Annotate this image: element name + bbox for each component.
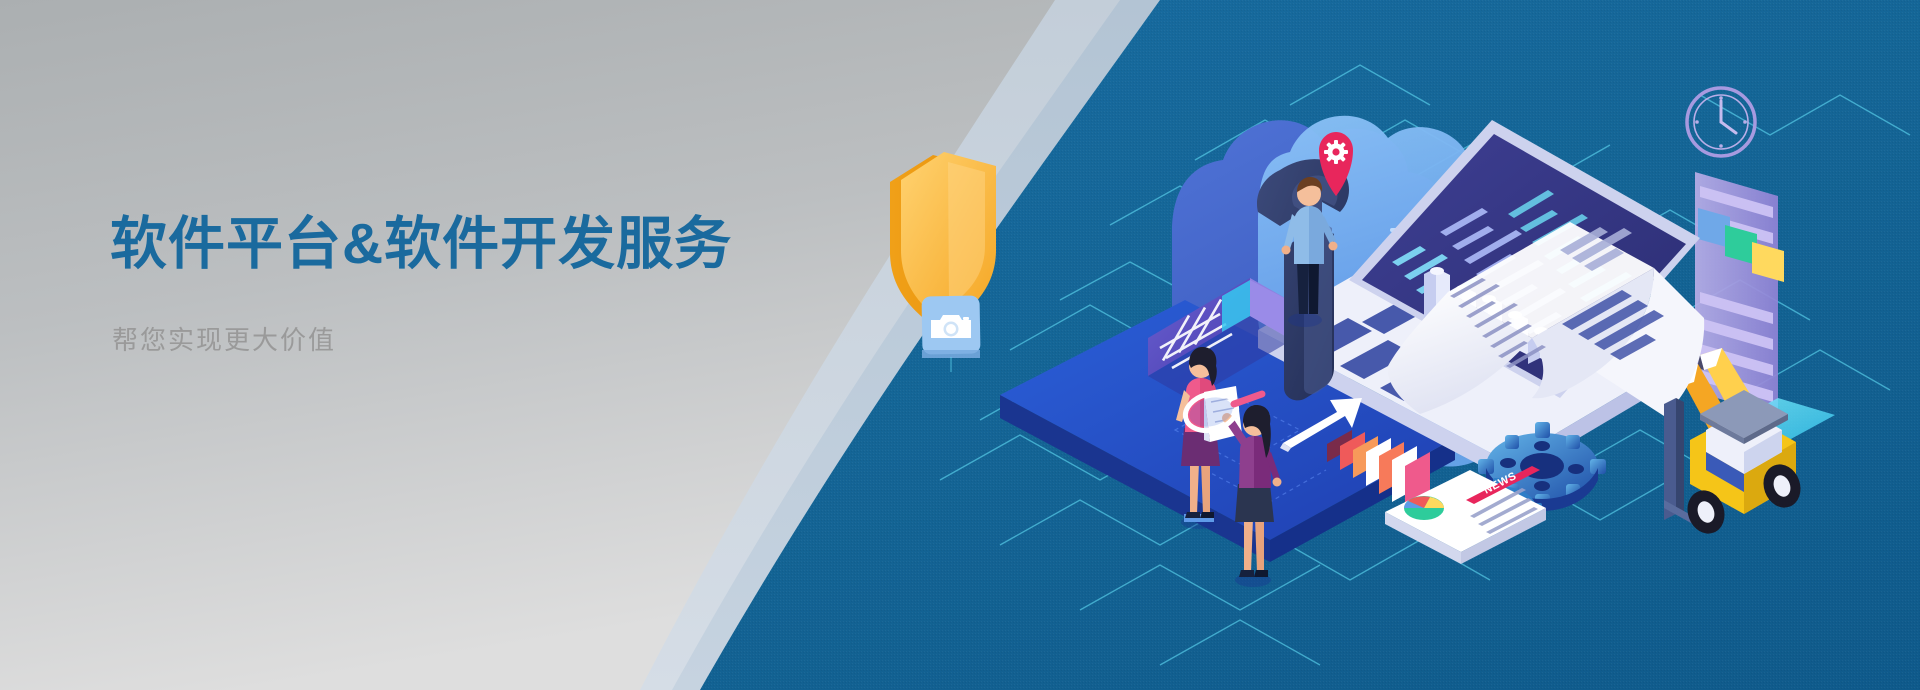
hero-banner: NEWS bbox=[0, 0, 1920, 690]
camera-icon bbox=[921, 295, 980, 372]
page-title: 软件平台&软件开发服务 bbox=[110, 212, 732, 278]
clock-icon bbox=[1687, 88, 1755, 156]
page-subtitle: 帮您实现更大价值 bbox=[112, 320, 732, 357]
hero-text-block: 软件平台&软件开发服务 帮您实现更大价值 bbox=[110, 212, 732, 357]
